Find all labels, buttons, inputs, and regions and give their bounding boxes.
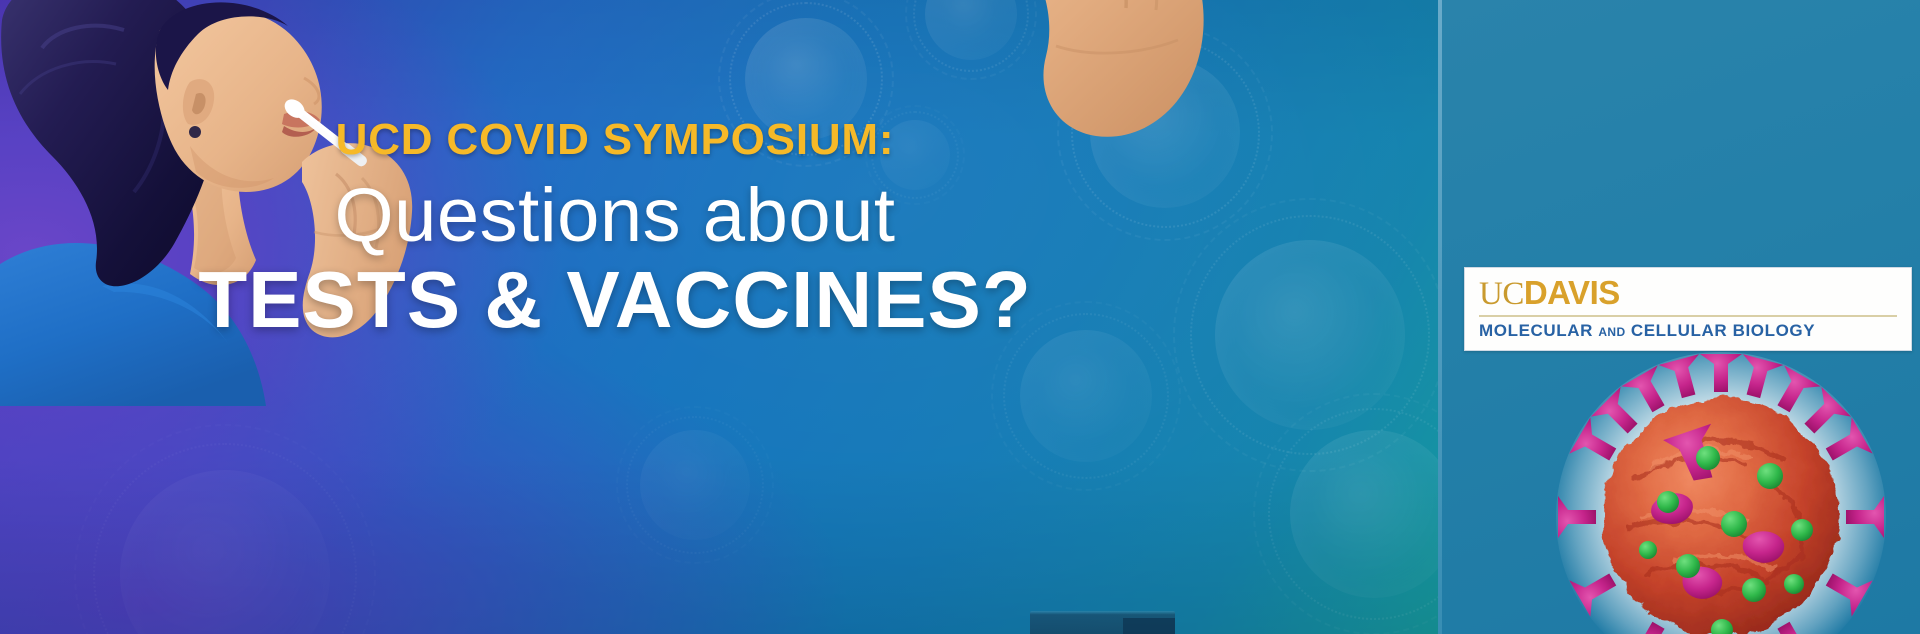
subtitle-and-text: AND (1598, 325, 1625, 339)
subtitle-cellular-biology-text: CELLULAR BIOLOGY (1631, 321, 1815, 340)
ucdavis-logo-divider (1479, 315, 1897, 317)
side-panel: UCDAVIS MOLECULAR AND CELLULAR BIOLOGY (1438, 0, 1920, 634)
slide-panel: UCD COVID SYMPOSIUM: Questions about TES… (0, 0, 1438, 634)
ucdavis-department-subtitle: MOLECULAR AND CELLULAR BIOLOGY (1479, 321, 1897, 341)
partial-bottom-ui-element (1030, 611, 1175, 634)
ucdavis-mcb-logo: UCDAVIS MOLECULAR AND CELLULAR BIOLOGY (1464, 267, 1912, 351)
headline-block: UCD COVID SYMPOSIUM: Questions about TES… (0, 118, 1230, 340)
symposium-slide-screenshot: UCD COVID SYMPOSIUM: Questions about TES… (0, 0, 1920, 634)
ucdavis-davis-text: DAVIS (1524, 274, 1620, 311)
ucdavis-uc-text: UC (1479, 276, 1524, 312)
coronavirus-3d-render (1556, 352, 1886, 634)
subtitle-molecular-text: MOLECULAR (1479, 321, 1593, 340)
slide-title-line-1: Questions about (0, 178, 1230, 254)
slide-title-line-2: TESTS & VACCINES? (0, 260, 1230, 340)
side-panel-edge-highlight (1438, 0, 1442, 634)
ucdavis-wordmark: UCDAVIS (1479, 276, 1897, 311)
symposium-eyebrow-text: UCD COVID SYMPOSIUM: (0, 118, 1230, 162)
